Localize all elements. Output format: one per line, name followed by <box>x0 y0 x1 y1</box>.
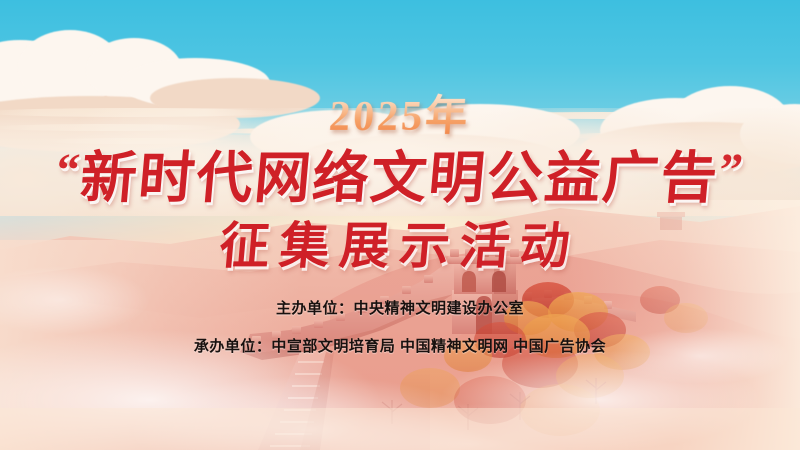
poster-text-content: 2025年 “新时代网络文明公益广告” 征集展示活动 主办单位：中央精神文明建设… <box>0 0 800 450</box>
headline-text: 新时代网络文明公益广告 <box>78 148 721 210</box>
organizer-host-line: 主办单位：中央精神文明建设办公室 <box>0 297 800 318</box>
close-quote-mark: ” <box>717 144 746 195</box>
poster-canvas: 2025年 “新时代网络文明公益广告” 征集展示活动 主办单位：中央精神文明建设… <box>0 0 800 450</box>
organizer-coorganizer-line: 承办单位：中宣部文明培育局 中国精神文明网 中国广告协会 <box>0 335 800 356</box>
year-label: 2025年 <box>0 82 800 143</box>
poster-headline: “新时代网络文明公益广告” <box>0 140 800 209</box>
poster-subline: 征集展示活动 <box>0 206 800 278</box>
